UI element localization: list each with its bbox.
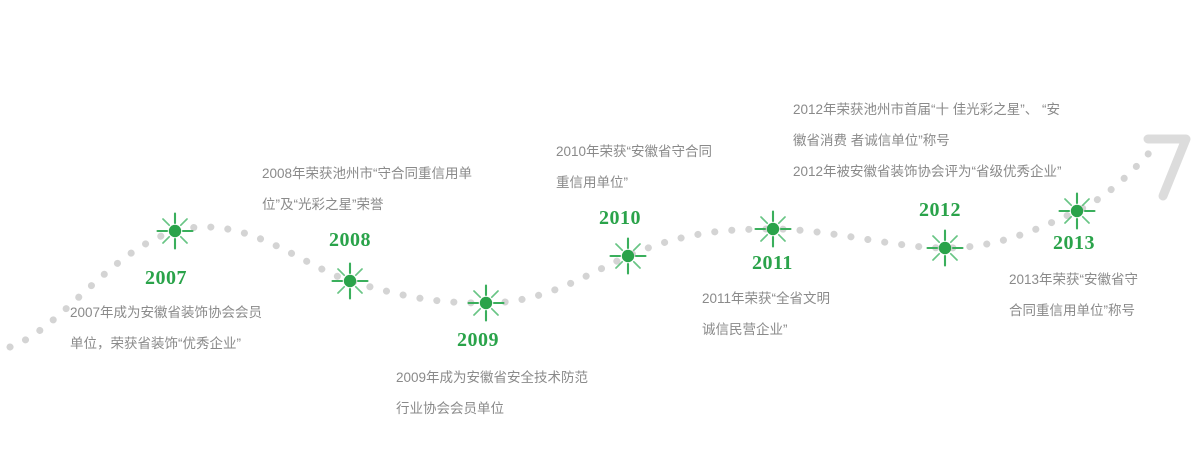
- star-burst-icon-2010: [611, 239, 646, 274]
- description-line: 位”及“光彩之星”荣誉: [262, 189, 472, 220]
- description-line: 2008年荣获池州市“守合同重信用单: [262, 158, 472, 189]
- star-burst-icon-2013: [1060, 194, 1095, 229]
- description-line: 2012年被安徽省装饰协会评为“省级优秀企业”: [793, 156, 1062, 187]
- description-line: 重信用单位”: [556, 167, 712, 198]
- year-label-2013: 2013: [1053, 233, 1095, 253]
- star-burst-icon-2009: [469, 286, 504, 321]
- description-2011: 2011年荣获“全省文明 诚信民营企业”: [702, 283, 830, 345]
- description-2013: 2013年荣获“安徽省守 合同重信用单位”称号: [1009, 264, 1138, 326]
- description-line: 单位，荣获省装饰“优秀企业”: [70, 328, 262, 359]
- year-label-2009: 2009: [457, 330, 499, 350]
- year-label-2010: 2010: [599, 208, 641, 228]
- description-2007: 2007年成为安徽省装饰协会会员 单位，荣获省装饰“优秀企业”: [70, 297, 262, 359]
- star-burst-icon-2012: [928, 231, 963, 266]
- star-burst-icon-2008: [333, 264, 368, 299]
- year-label-2007: 2007: [145, 268, 187, 288]
- description-line: 2013年荣获“安徽省守: [1009, 264, 1138, 295]
- year-label-2008: 2008: [329, 230, 371, 250]
- description-2009: 2009年成为安徽省安全技术防范 行业协会会员单位: [396, 362, 588, 424]
- description-line: 诚信民营企业”: [702, 314, 830, 345]
- description-line: 2012年荣获池州市首届“十 佳光彩之星”、 “安: [793, 94, 1062, 125]
- description-line: 2009年成为安徽省安全技术防范: [396, 362, 588, 393]
- description-2008: 2008年荣获池州市“守合同重信用单 位”及“光彩之星”荣誉: [262, 158, 472, 220]
- arrow-head-icon: [1148, 139, 1186, 196]
- timeline-path: [0, 0, 1200, 465]
- description-line: 行业协会会员单位: [396, 393, 588, 424]
- timeline-infographic: 2007 2007年成为安徽省装饰协会会员 单位，荣获省装饰“优秀企业” 200…: [0, 0, 1200, 465]
- star-burst-icon-2011: [756, 212, 791, 247]
- star-burst-icon-2007: [158, 214, 193, 249]
- description-line: 2010年荣获“安徽省守合同: [556, 136, 712, 167]
- description-2012: 2012年荣获池州市首届“十 佳光彩之星”、 “安 徽省消费 者诚信单位”称号 …: [793, 94, 1062, 187]
- description-line: 徽省消费 者诚信单位”称号: [793, 125, 1062, 156]
- description-2010: 2010年荣获“安徽省守合同 重信用单位”: [556, 136, 712, 198]
- description-line: 2007年成为安徽省装饰协会会员: [70, 297, 262, 328]
- year-label-2011: 2011: [752, 253, 793, 273]
- description-line: 合同重信用单位”称号: [1009, 295, 1138, 326]
- description-line: 2011年荣获“全省文明: [702, 283, 830, 314]
- year-label-2012: 2012: [919, 200, 961, 220]
